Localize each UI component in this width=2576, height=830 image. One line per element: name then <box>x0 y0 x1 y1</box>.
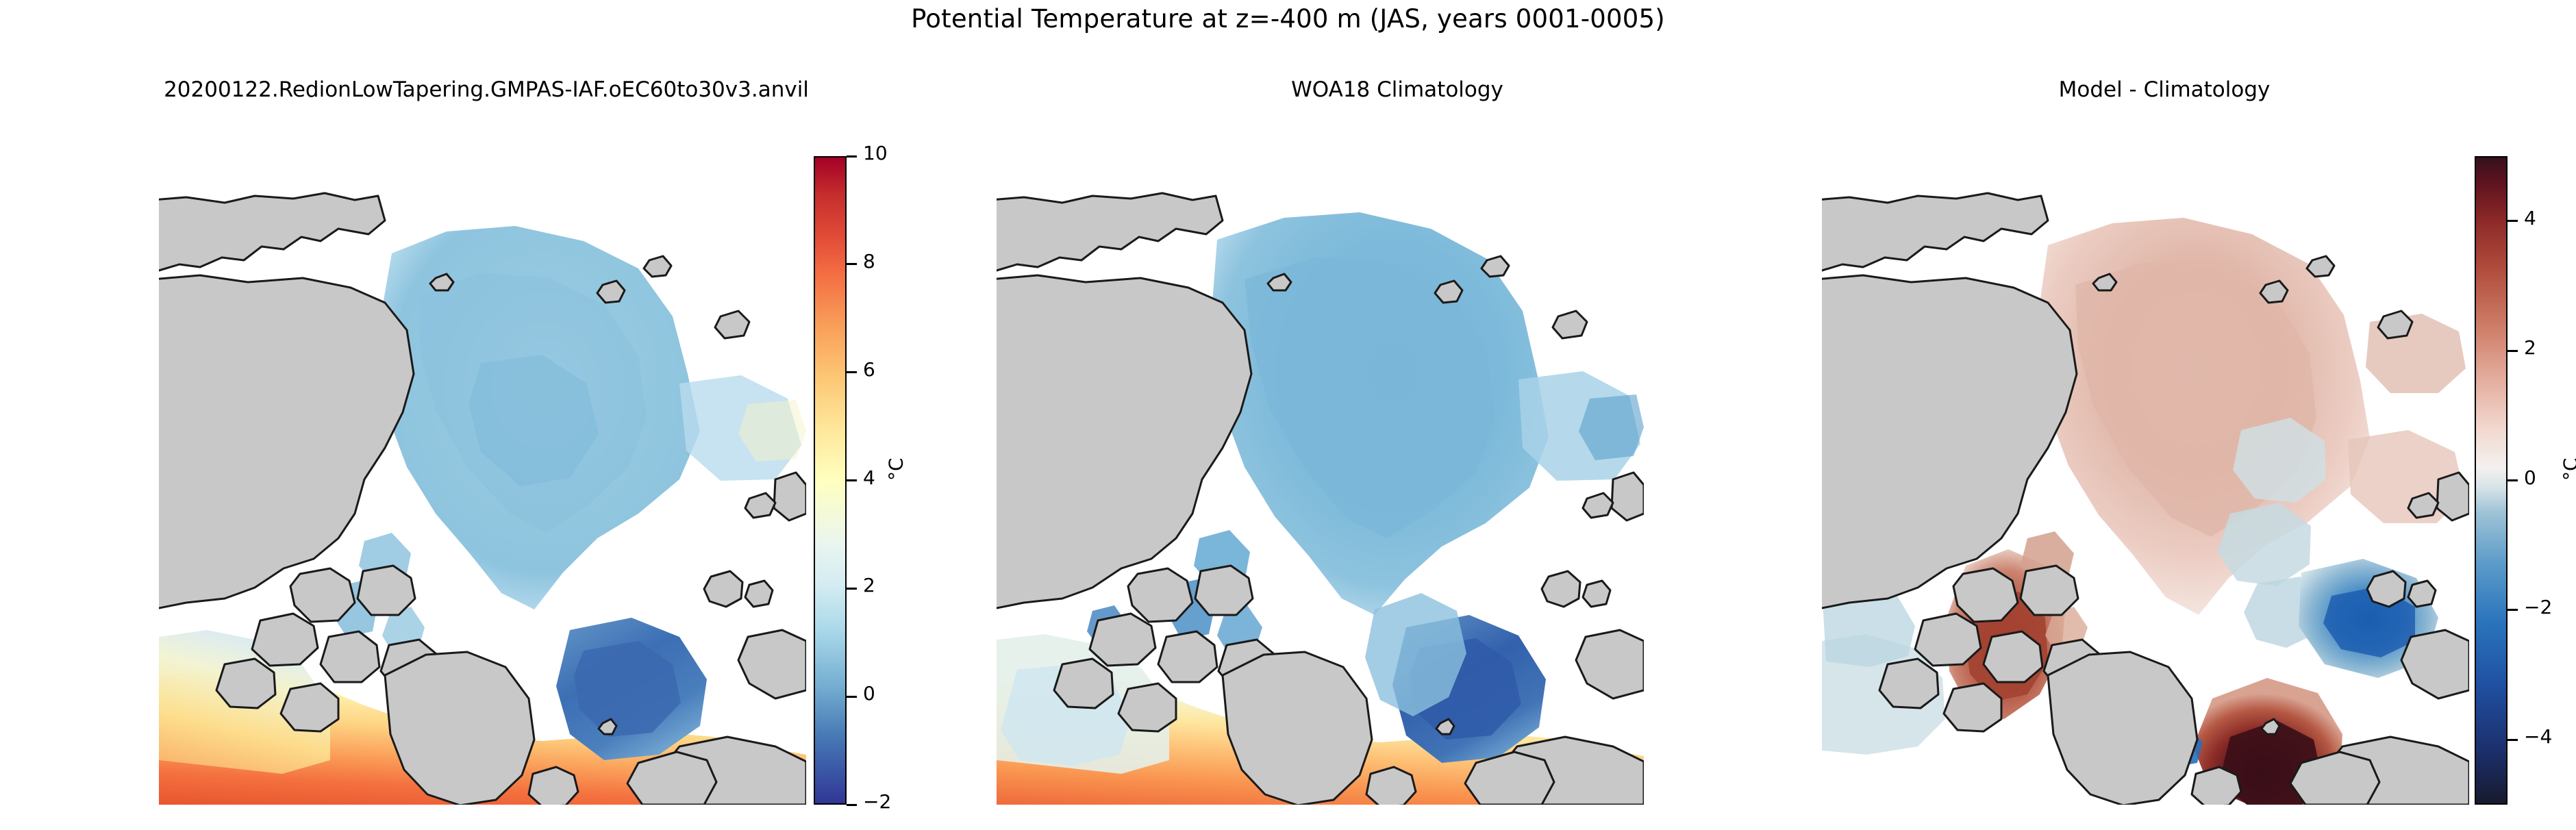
panel-subtitle-climatology: WOA18 Climatology <box>973 77 1822 102</box>
tick-mark <box>2508 609 2518 611</box>
map-canvas-climatology <box>997 158 1644 805</box>
panel-subtitle-model: 20200122.RedionLowTapering.GMPAS-IAF.oEC… <box>0 77 973 102</box>
tick-label: −4 <box>2524 727 2552 746</box>
tick-mark <box>2508 220 2518 222</box>
map-panel-climatology <box>997 158 1644 805</box>
arctic-map-difference <box>1822 158 2469 805</box>
map-panel-model <box>159 158 806 805</box>
tick-mark <box>847 588 857 590</box>
tick-label: −2 <box>863 792 891 812</box>
tick-label: 0 <box>863 684 875 703</box>
colorbar-temperature-gradient <box>814 156 847 805</box>
tick-label: 6 <box>863 360 875 379</box>
tick-mark <box>847 696 857 698</box>
colorbar-difference-gradient <box>2475 156 2508 805</box>
colorbar-difference-unit-label: °C <box>2560 457 2576 481</box>
tick-mark <box>847 263 857 265</box>
tick-mark <box>2508 479 2518 481</box>
map-panel-difference <box>1822 158 2469 805</box>
tick-label: 4 <box>863 468 875 488</box>
tick-mark <box>2508 350 2518 352</box>
tick-label: 4 <box>2524 209 2536 228</box>
tick-mark <box>847 479 857 481</box>
tick-label: 8 <box>863 252 875 271</box>
arctic-map-climatology <box>997 158 1644 805</box>
tick-mark <box>2508 739 2518 741</box>
tick-mark <box>847 155 857 158</box>
tick-mark <box>847 804 857 806</box>
tick-label: 0 <box>2524 468 2536 488</box>
figure-title: Potential Temperature at z=-400 m (JAS, … <box>0 4 2576 34</box>
tick-label: 10 <box>863 144 888 163</box>
tick-mark <box>847 371 857 373</box>
map-canvas-model <box>159 158 806 805</box>
tick-label: −2 <box>2524 598 2552 617</box>
panel-subtitle-difference: Model - Climatology <box>1822 77 2507 102</box>
tick-label: 2 <box>2524 338 2536 357</box>
tick-label: 2 <box>863 576 875 595</box>
colorbar-temperature-unit-label: °C <box>885 457 908 481</box>
arctic-map-model <box>159 158 806 805</box>
map-canvas-difference <box>1822 158 2469 805</box>
